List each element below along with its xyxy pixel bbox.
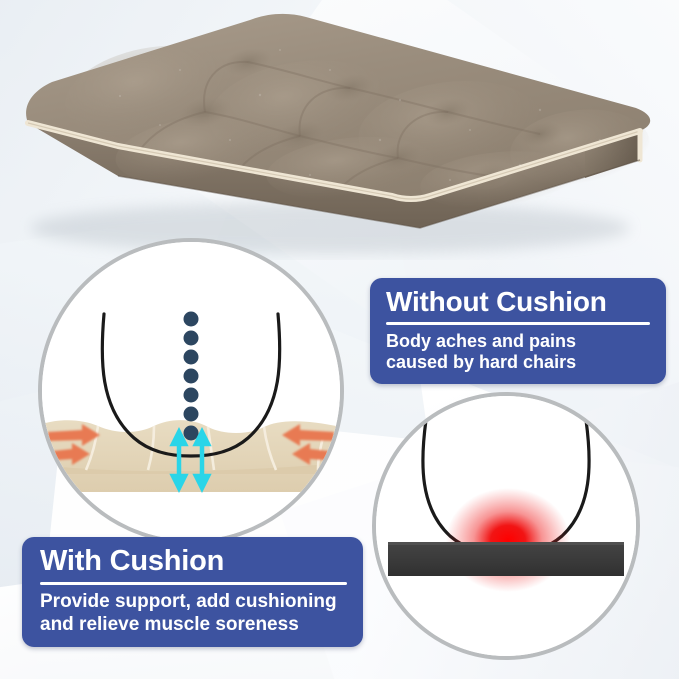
callout-with-title: With Cushion xyxy=(40,546,347,577)
product-photo xyxy=(0,0,679,260)
body-on-cushion-diagram xyxy=(38,238,344,544)
body-on-hard-surface-diagram xyxy=(372,392,640,660)
callout-divider xyxy=(40,582,347,585)
callout-with-subtitle-line2: and relieve muscle soreness xyxy=(40,614,347,636)
callout-with-subtitle-line1: Provide support, add cushioning xyxy=(40,591,347,613)
callout-with-cushion: With Cushion Provide support, add cushio… xyxy=(22,537,363,647)
callout-without-subtitle-line2: caused by hard chairs xyxy=(386,352,650,373)
callout-divider xyxy=(386,322,650,325)
callout-with-subtitle: Provide support, add cushioning and reli… xyxy=(40,591,347,635)
pain-glow xyxy=(446,488,570,592)
callout-without-cushion: Without Cushion Body aches and pains cau… xyxy=(370,278,666,384)
product-comparison-image: Without Cushion Body aches and pains cau… xyxy=(0,0,679,679)
callout-without-subtitle: Body aches and pains caused by hard chai… xyxy=(386,331,650,373)
callout-without-title: Without Cushion xyxy=(386,287,650,317)
hard-surface-bar xyxy=(388,542,624,576)
callout-without-subtitle-line1: Body aches and pains xyxy=(386,331,650,352)
